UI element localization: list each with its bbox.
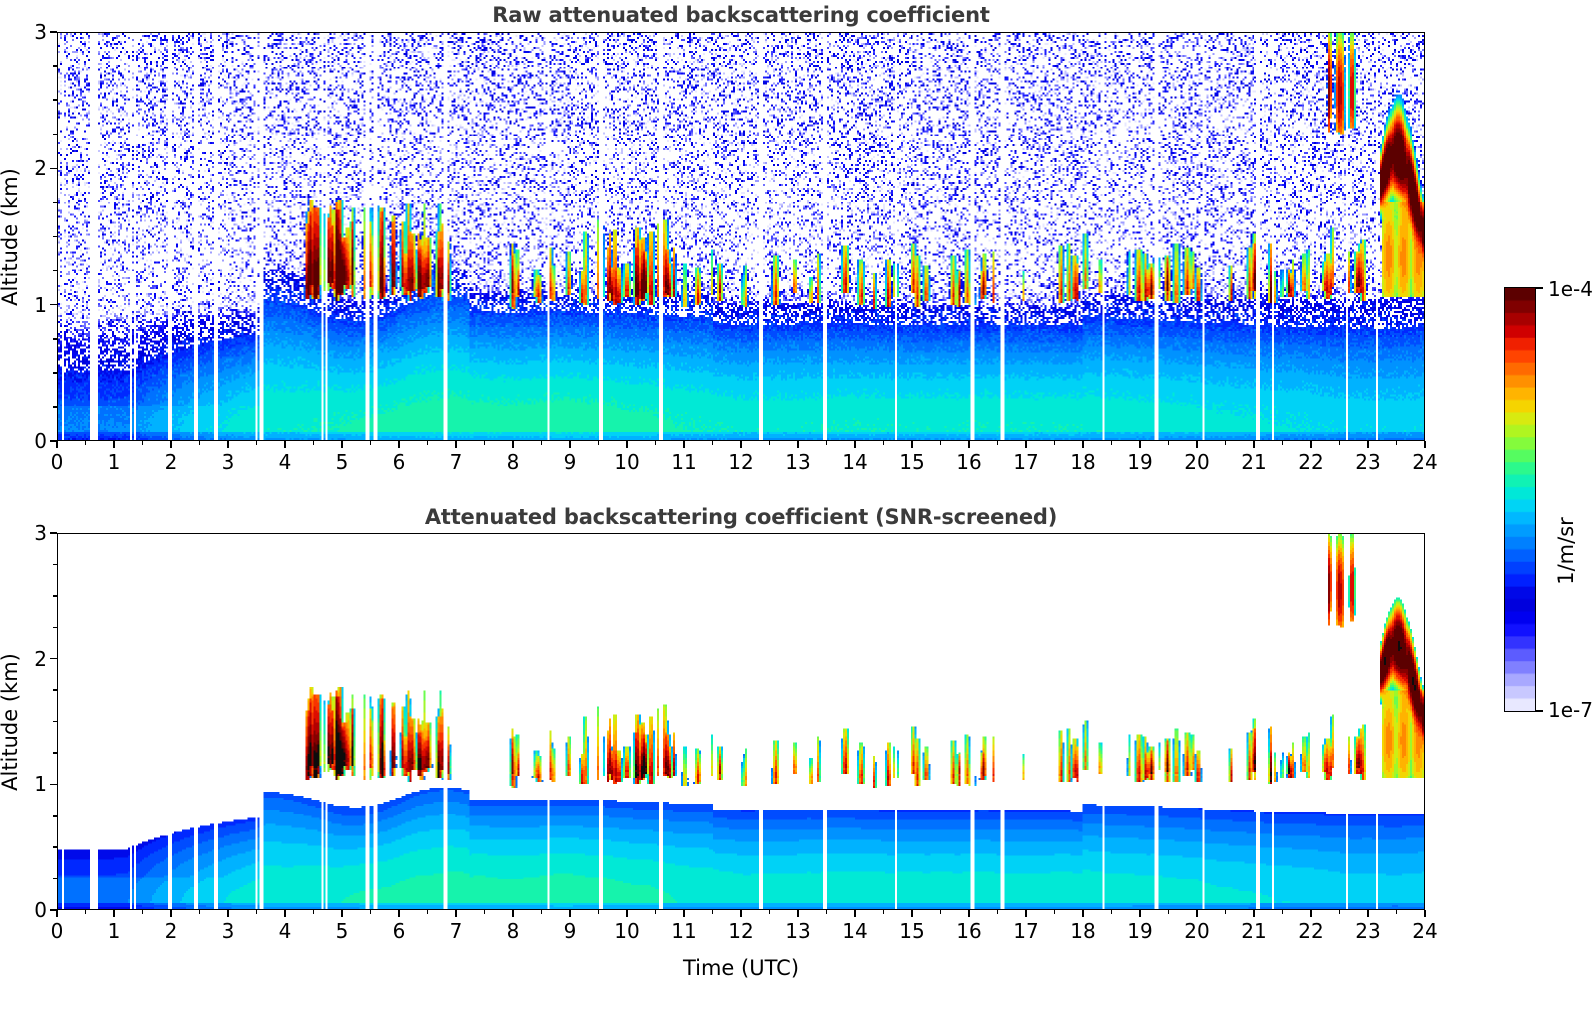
- x-tick-label: 11: [671, 919, 696, 943]
- y-minor-tick: [53, 878, 57, 880]
- x-minor-tick: [85, 910, 87, 914]
- x-tick-label: 12: [728, 450, 753, 474]
- y-minor-tick: [53, 815, 57, 817]
- y-minor-tick: [53, 134, 57, 136]
- x-major-tick: [854, 441, 856, 448]
- x-minor-tick: [1054, 441, 1056, 445]
- y-major-tick: [50, 658, 57, 660]
- x-major-tick: [113, 910, 115, 917]
- x-minor-tick: [826, 910, 828, 914]
- x-major-tick: [683, 910, 685, 917]
- x-major-tick: [1424, 441, 1426, 448]
- x-tick-label: 10: [614, 919, 639, 943]
- x-tick-label: 16: [956, 450, 981, 474]
- x-major-tick: [512, 910, 514, 917]
- lidar-backscatter-figure: Raw attenuated backscattering coefficien…: [0, 0, 1595, 1020]
- y-minor-tick: [53, 564, 57, 566]
- x-major-tick: [1310, 910, 1312, 917]
- x-minor-tick: [142, 441, 144, 445]
- y-major-tick: [50, 909, 57, 911]
- x-major-tick: [1139, 910, 1141, 917]
- x-tick-label: 7: [450, 919, 463, 943]
- x-tick-label: 2: [165, 919, 178, 943]
- x-tick-label: 18: [1070, 919, 1095, 943]
- x-tick-label: 11: [671, 450, 696, 474]
- x-tick-label: 4: [279, 450, 292, 474]
- x-tick-label: 22: [1298, 919, 1323, 943]
- x-minor-tick: [1225, 910, 1227, 914]
- x-tick-label: 13: [785, 919, 810, 943]
- x-tick-label: 19: [1127, 919, 1152, 943]
- x-major-tick: [740, 441, 742, 448]
- x-minor-tick: [427, 910, 429, 914]
- x-minor-tick: [1111, 441, 1113, 445]
- x-tick-label: 20: [1184, 450, 1209, 474]
- x-tick-label: 21: [1241, 450, 1266, 474]
- x-major-tick: [569, 441, 571, 448]
- x-major-tick: [569, 910, 571, 917]
- top-panel-title: Raw attenuated backscattering coefficien…: [57, 3, 1425, 27]
- x-major-tick: [170, 910, 172, 917]
- x-major-tick: [683, 441, 685, 448]
- y-minor-tick: [53, 406, 57, 408]
- x-minor-tick: [370, 441, 372, 445]
- y-minor-tick: [53, 338, 57, 340]
- x-minor-tick: [313, 910, 315, 914]
- x-tick-label: 1: [108, 450, 121, 474]
- bottom-panel-x-axis-label: Time (UTC): [57, 956, 1425, 980]
- x-minor-tick: [1282, 910, 1284, 914]
- x-major-tick: [740, 910, 742, 917]
- y-major-tick: [50, 784, 57, 786]
- x-major-tick: [626, 910, 628, 917]
- x-minor-tick: [313, 441, 315, 445]
- x-tick-label: 15: [899, 919, 924, 943]
- x-minor-tick: [541, 910, 543, 914]
- x-minor-tick: [598, 910, 600, 914]
- x-major-tick: [968, 441, 970, 448]
- x-minor-tick: [199, 441, 201, 445]
- x-major-tick: [1253, 441, 1255, 448]
- x-major-tick: [1139, 441, 1141, 448]
- x-minor-tick: [997, 441, 999, 445]
- x-minor-tick: [940, 441, 942, 445]
- top-panel-heatmap: [58, 33, 1424, 440]
- x-minor-tick: [883, 441, 885, 445]
- x-tick-label: 19: [1127, 450, 1152, 474]
- x-minor-tick: [256, 441, 258, 445]
- x-major-tick: [1253, 910, 1255, 917]
- x-tick-label: 14: [842, 450, 867, 474]
- x-major-tick: [455, 910, 457, 917]
- y-minor-tick: [53, 846, 57, 848]
- x-minor-tick: [1339, 910, 1341, 914]
- y-minor-tick: [53, 627, 57, 629]
- colorbar-axis-label: 1/m/sr: [1554, 517, 1578, 585]
- colorbar-max-label: 1e-4: [1548, 277, 1593, 301]
- x-minor-tick: [655, 910, 657, 914]
- x-major-tick: [341, 910, 343, 917]
- x-tick-label: 20: [1184, 919, 1209, 943]
- y-minor-tick: [53, 689, 57, 691]
- x-minor-tick: [1168, 910, 1170, 914]
- x-tick-label: 3: [222, 919, 235, 943]
- x-minor-tick: [199, 910, 201, 914]
- x-major-tick: [1424, 910, 1426, 917]
- x-major-tick: [170, 441, 172, 448]
- x-tick-label: 16: [956, 919, 981, 943]
- x-major-tick: [1025, 441, 1027, 448]
- y-major-tick: [50, 168, 57, 170]
- x-major-tick: [113, 441, 115, 448]
- x-tick-label: 22: [1298, 450, 1323, 474]
- x-major-tick: [1367, 910, 1369, 917]
- x-tick-label: 5: [336, 450, 349, 474]
- x-major-tick: [797, 441, 799, 448]
- x-minor-tick: [1396, 441, 1398, 445]
- x-major-tick: [56, 910, 58, 917]
- x-tick-label: 15: [899, 450, 924, 474]
- x-tick-label: 12: [728, 919, 753, 943]
- colorbar-tick-max: [1536, 287, 1543, 289]
- y-minor-tick: [53, 236, 57, 238]
- x-minor-tick: [712, 910, 714, 914]
- y-minor-tick: [53, 595, 57, 597]
- x-major-tick: [911, 441, 913, 448]
- x-tick-label: 24: [1412, 450, 1437, 474]
- x-tick-label: 5: [336, 919, 349, 943]
- x-major-tick: [854, 910, 856, 917]
- x-major-tick: [455, 441, 457, 448]
- x-minor-tick: [484, 441, 486, 445]
- x-tick-label: 1: [108, 919, 121, 943]
- x-minor-tick: [142, 910, 144, 914]
- y-minor-tick: [53, 752, 57, 754]
- bottom-panel-y-axis-label: Altitude (km): [0, 533, 22, 910]
- x-tick-label: 8: [507, 450, 520, 474]
- y-major-tick: [50, 440, 57, 442]
- x-tick-label: 9: [564, 450, 577, 474]
- x-minor-tick: [484, 910, 486, 914]
- y-major-tick: [50, 31, 57, 33]
- x-major-tick: [797, 910, 799, 917]
- x-tick-label: 21: [1241, 919, 1266, 943]
- x-major-tick: [284, 910, 286, 917]
- colorbar-min-label: 1e-7: [1548, 698, 1593, 722]
- x-minor-tick: [997, 910, 999, 914]
- x-minor-tick: [940, 910, 942, 914]
- x-tick-label: 4: [279, 919, 292, 943]
- top-panel-plot-area: [57, 32, 1425, 441]
- x-tick-label: 24: [1412, 919, 1437, 943]
- x-major-tick: [1310, 441, 1312, 448]
- x-tick-label: 23: [1355, 919, 1380, 943]
- colorbar: [1504, 287, 1536, 712]
- y-minor-tick: [53, 270, 57, 272]
- x-minor-tick: [655, 441, 657, 445]
- x-major-tick: [1082, 441, 1084, 448]
- y-minor-tick: [53, 65, 57, 67]
- x-tick-label: 9: [564, 919, 577, 943]
- x-tick-label: 14: [842, 919, 867, 943]
- x-tick-label: 23: [1355, 450, 1380, 474]
- x-tick-label: 6: [393, 919, 406, 943]
- x-tick-label: 17: [1013, 919, 1038, 943]
- x-minor-tick: [1282, 441, 1284, 445]
- y-major-tick: [50, 304, 57, 306]
- x-minor-tick: [712, 441, 714, 445]
- x-major-tick: [56, 441, 58, 448]
- x-major-tick: [968, 910, 970, 917]
- x-major-tick: [398, 910, 400, 917]
- x-minor-tick: [826, 441, 828, 445]
- x-minor-tick: [1168, 441, 1170, 445]
- x-minor-tick: [370, 910, 372, 914]
- x-major-tick: [626, 441, 628, 448]
- x-minor-tick: [769, 910, 771, 914]
- x-tick-label: 3: [222, 450, 235, 474]
- x-major-tick: [512, 441, 514, 448]
- x-tick-label: 17: [1013, 450, 1038, 474]
- x-tick-label: 7: [450, 450, 463, 474]
- x-major-tick: [1025, 910, 1027, 917]
- x-tick-label: 18: [1070, 450, 1095, 474]
- top-panel-y-axis-label: Altitude (km): [0, 32, 22, 441]
- x-minor-tick: [256, 910, 258, 914]
- x-minor-tick: [598, 441, 600, 445]
- x-minor-tick: [85, 441, 87, 445]
- x-minor-tick: [769, 441, 771, 445]
- x-minor-tick: [541, 441, 543, 445]
- x-tick-label: 6: [393, 450, 406, 474]
- x-tick-label: 10: [614, 450, 639, 474]
- x-major-tick: [284, 441, 286, 448]
- colorbar-gradient: [1505, 288, 1535, 711]
- x-major-tick: [227, 910, 229, 917]
- x-tick-label: 8: [507, 919, 520, 943]
- x-major-tick: [341, 441, 343, 448]
- x-major-tick: [398, 441, 400, 448]
- x-minor-tick: [1225, 441, 1227, 445]
- x-major-tick: [1196, 441, 1198, 448]
- y-minor-tick: [53, 721, 57, 723]
- x-tick-label: 2: [165, 450, 178, 474]
- x-minor-tick: [1054, 910, 1056, 914]
- bottom-panel-title: Attenuated backscattering coefficient (S…: [57, 505, 1425, 529]
- y-major-tick: [50, 532, 57, 534]
- x-minor-tick: [883, 910, 885, 914]
- x-major-tick: [1082, 910, 1084, 917]
- x-minor-tick: [1339, 441, 1341, 445]
- x-tick-label: 13: [785, 450, 810, 474]
- x-major-tick: [227, 441, 229, 448]
- y-minor-tick: [53, 372, 57, 374]
- x-minor-tick: [1111, 910, 1113, 914]
- x-tick-label: 0: [51, 450, 64, 474]
- x-major-tick: [1196, 910, 1198, 917]
- bottom-panel-plot-area: [57, 533, 1425, 910]
- y-minor-tick: [53, 202, 57, 204]
- x-major-tick: [911, 910, 913, 917]
- x-minor-tick: [427, 441, 429, 445]
- x-major-tick: [1367, 441, 1369, 448]
- colorbar-tick-min: [1536, 710, 1543, 712]
- y-minor-tick: [53, 99, 57, 101]
- x-minor-tick: [1396, 910, 1398, 914]
- x-tick-label: 0: [51, 919, 64, 943]
- bottom-panel-heatmap: [58, 534, 1424, 909]
